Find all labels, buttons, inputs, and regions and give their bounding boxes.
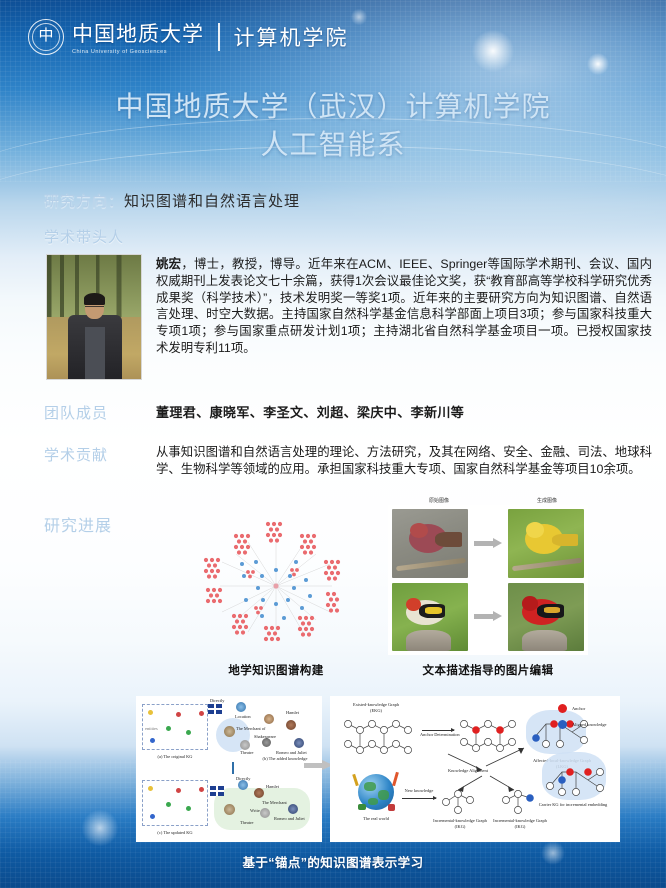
carrier-kg-label: Carrier KG for incremental embedding (536, 802, 610, 807)
bird-col-left-label: 原始图像 (404, 497, 474, 504)
team-members-label: 团队成员 (44, 402, 108, 423)
photo-person-hair (84, 293, 106, 304)
university-seal-icon: 中 (28, 19, 64, 55)
carrier-kg-svg (542, 752, 620, 802)
kg-entity-icon-c3 (224, 804, 235, 815)
transform-arrow-icon-2 (468, 612, 508, 621)
bird-tail-1 (435, 532, 462, 547)
kg-caption-c: (c) The updated KG (146, 830, 204, 835)
ekg-graph-svg (340, 716, 418, 756)
kg-flag-icon-c (210, 786, 224, 796)
anchor-determination-label: Anchor Determination (420, 732, 456, 737)
kg-node-red-c2 (199, 787, 204, 792)
footer-glow-1 (80, 808, 120, 848)
kg-node-green-c2 (186, 806, 191, 811)
kg-rel-label-a3: The Merchant of (236, 726, 266, 731)
kg-rel-label-b1: Hamlet (286, 710, 299, 715)
ikg2-abbr: (IKG) (490, 824, 550, 829)
university-logo: 中 中国地质大学 China University of Geosciences… (28, 18, 349, 55)
bird-image-generated-1 (508, 509, 584, 578)
legend-anchor-dot (558, 704, 567, 713)
kg-node-red-a (176, 712, 181, 717)
kg-node-blue-a (150, 738, 155, 743)
bottom-figure-caption: 基于“锚点”的知识图谱表示学习 (0, 852, 666, 871)
kg-rel-label-c4: Write (250, 808, 260, 813)
kg-entity-icon-b1 (264, 714, 274, 724)
bird-head-2 (526, 522, 544, 538)
kg-node-green-c (166, 802, 171, 807)
photo-person-glasses (85, 306, 104, 310)
bird-image-original-1 (392, 509, 468, 578)
kg-entity-icon-a2 (224, 726, 235, 737)
kg-node-yellow-a (148, 710, 153, 715)
kg-node-blue-c (150, 814, 155, 819)
bird-head-1 (410, 523, 428, 538)
kg-update-panel: entities (a) The original KG Directly Lo… (136, 696, 322, 842)
avatar (46, 254, 142, 380)
new-knowledge-arrow (402, 798, 436, 799)
globe-decorations (352, 770, 400, 814)
ikg1-graph-svg (438, 788, 480, 816)
kg-rel-label-b2: Shakespeare (254, 734, 276, 739)
bird-image-generated-2 (508, 583, 584, 652)
team-members-list: 董理君、康晓军、李圣文、刘超、梁庆中、李新川等 (156, 402, 464, 421)
research-direction-label: 研究方向： (44, 193, 124, 210)
seal-glyph: 中 (38, 29, 53, 44)
ekg-abbr: (EKG) (338, 708, 414, 713)
kg-rel-label-c3: The Merchant (262, 800, 287, 805)
kg-node-green-a (166, 726, 171, 731)
kg-node-green-a2 (186, 730, 191, 735)
kg-rel-label-b3: Romeo and Juliet (276, 750, 307, 755)
new-knowledge-label: New knowledge (402, 788, 436, 793)
kg-rel-label-a1: Directly (210, 698, 224, 703)
rock-1 (406, 630, 452, 651)
header-glow-1 (470, 28, 516, 74)
kg-node-yellow-c (148, 786, 153, 791)
leader-bio-text: ，博士，教授，博导。近年来在ACM、IEEE、Springer等国际学术期刊、会… (156, 257, 652, 355)
legend-aligned-label: Aligned knowledge (572, 722, 607, 727)
ikg1-abbr: (IKG) (430, 824, 490, 829)
legend-anchor-label: Anchor (572, 706, 585, 711)
rock-2 (522, 630, 568, 651)
real-world-label: The real world (348, 816, 404, 821)
kg-node-red-a2 (199, 711, 204, 716)
header-glow-3 (350, 8, 368, 26)
kg-rel-label-c2: Hamlet (266, 784, 279, 789)
anchor-kg-panel: Existed-knowledge Graph (EKG) Anchor Det… (330, 696, 620, 842)
kg-flag-icon-a (208, 704, 222, 714)
kg-figure-caption: 地学知识图谱构建 (196, 662, 356, 678)
kg-entity-icon-a1 (236, 702, 246, 712)
bird-head-3 (406, 598, 421, 612)
logo-text-block: 中国地质大学 China University of Geosciences (72, 18, 204, 55)
bird-figure-caption: 文本描述指导的图片编辑 (388, 662, 588, 678)
research-direction-row: 研究方向：知识图谱和自然语言处理 (44, 190, 300, 211)
academic-contribution-label: 学术贡献 (44, 444, 108, 465)
bird-wing-stripe-3 (425, 607, 442, 614)
kg-entity-icon-c1 (238, 780, 248, 790)
kg-rel-label-a2: Location (235, 714, 251, 719)
bird-col-right-label: 生成图像 (512, 497, 582, 504)
anchor-determination-arrow (422, 730, 454, 731)
page-title-line2: 人工智能系 (0, 126, 666, 164)
branch-1 (396, 558, 466, 571)
ikg2-label: Incremental-knowledge Graph (490, 818, 550, 823)
text-guided-image-editing-figure (388, 505, 588, 655)
ikg1-label: Incremental-knowledge Graph (430, 818, 490, 823)
page-title: 中国地质大学（武汉）计算机学院 人工智能系 (0, 88, 666, 164)
leader-name: 姚宏 (156, 257, 181, 271)
research-progress-label: 研究进展 (44, 512, 112, 536)
kg-graph-svg (196, 520, 356, 652)
kg-entity-icon-c4 (260, 808, 270, 818)
transform-arrow-icon-1 (468, 539, 508, 548)
kg-entity-icon-c2 (254, 788, 264, 798)
kg-entity-icon-b2 (286, 720, 296, 730)
legend-aligned-dot (558, 720, 567, 729)
ikg2-graph-svg (498, 788, 540, 816)
kg-rel-label-c1: Directly (236, 776, 250, 781)
branch-2 (512, 558, 582, 571)
kg-update-figure: entities (a) The original KG Directly Lo… (136, 696, 322, 842)
academic-contribution-text: 从事知识图谱和自然语言处理的理论、方法研究，及其在网络、安全、金融、司法、地球科… (156, 444, 652, 478)
research-direction-value: 知识图谱和自然语言处理 (124, 193, 300, 210)
anchor-kg-figure: Existed-knowledge Graph (EKG) Anchor Det… (330, 696, 620, 842)
header-glow-2 (586, 52, 610, 76)
kg-rel-label-a4: Theatre (240, 750, 253, 755)
leader-biography: 姚宏，博士，教授，博导。近年来在ACM、IEEE、Springer等国际学术期刊… (156, 256, 652, 357)
kg-box-note-a: entities (145, 726, 158, 731)
poster-root: 中 中国地质大学 China University of Geosciences… (0, 0, 666, 888)
kg-caption-a: (a) The original KG (146, 754, 204, 759)
page-title-line1: 中国地质大学（武汉）计算机学院 (115, 91, 550, 122)
photo-person-shirt (85, 327, 106, 379)
bird-tail-2 (552, 534, 578, 546)
logo-english-name: China University of Geosciences (72, 49, 204, 55)
kg-rel-label-c5: Romeo and Juliet (274, 816, 305, 821)
logo-chinese-name: 中国地质大学 (72, 18, 204, 48)
academic-leader-label: 学术带头人 (44, 226, 124, 247)
bird-image-original-2 (392, 583, 468, 652)
bird-head-4 (522, 596, 538, 610)
bird-wing-stripe-4 (544, 607, 559, 612)
kg-entity-icon-b3 (294, 738, 304, 748)
kg-construction-figure (196, 520, 356, 652)
logo-divider (218, 23, 220, 51)
kg-entity-icon-a3 (240, 740, 250, 750)
kg-connector (232, 762, 234, 774)
kg-node-red-c (176, 788, 181, 793)
logo-school-name: 计算机学院 (234, 22, 349, 52)
ekg-label: Existed-knowledge Graph (338, 702, 414, 707)
kg-rel-label-c6: Theatre (240, 820, 253, 825)
kg-entity-icon-c5 (288, 804, 298, 814)
